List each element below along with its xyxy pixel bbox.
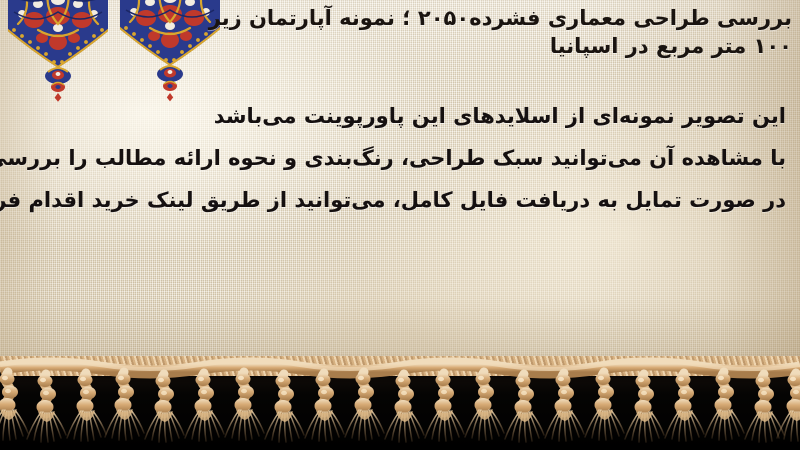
body-line-3: در صورت تمایل به دریافت فایل کامل، می‌تو… [14,190,786,211]
slide-body: این تصویر نمونه‌ای از اسلایدهای این پاور… [14,106,786,211]
slide-title-line-1: بررسی طراحی معماری فشرده۲۰۵۰ ؛ نمونه آپا… [262,4,792,33]
slide-title-line-2: ۱۰۰ متر مربع در اسپانیا [262,32,792,61]
persian-medallion-ornament-icon [120,0,220,102]
body-line-1: این تصویر نمونه‌ای از اسلایدهای این پاور… [14,106,786,127]
body-line-2: با مشاهده آن می‌توانید سبک طراحی، رنگ‌بن… [14,148,786,169]
slide-canvas: بررسی طراحی معماری فشرده۲۰۵۰ ؛ نمونه آپا… [0,0,800,450]
carpet-fringe-tassels-icon [0,352,800,450]
persian-medallion-ornament-icon [8,0,108,102]
ornament-group [0,0,240,106]
slide-title: بررسی طراحی معماری فشرده۲۰۵۰ ؛ نمونه آپا… [262,4,792,61]
